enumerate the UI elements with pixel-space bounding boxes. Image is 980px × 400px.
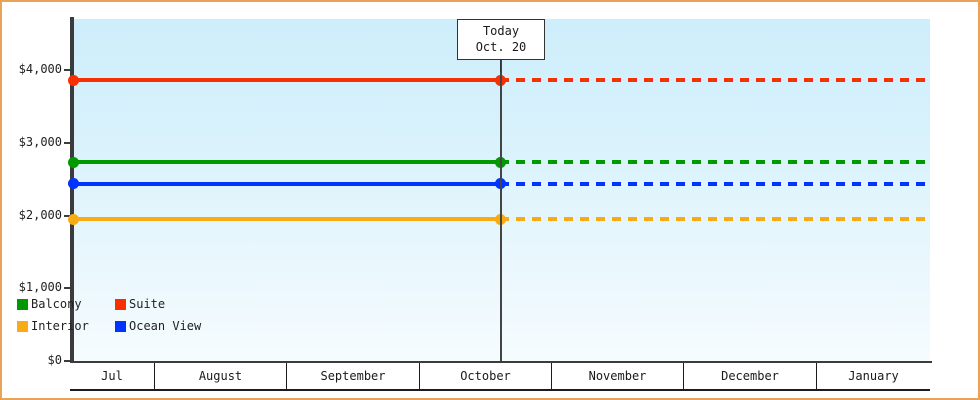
legend: Balcony Suite Interior Ocean View	[17, 293, 213, 337]
legend-label-suite: Suite	[129, 293, 165, 315]
series-line-dashed-interior[interactable]	[500, 217, 930, 221]
month-cell-august[interactable]: August	[155, 363, 287, 389]
y-axis-tick-mark	[64, 69, 71, 71]
y-axis-tick-label: $4,000	[0, 63, 62, 75]
today-callout-box[interactable]: Today Oct. 20	[457, 19, 545, 60]
y-axis-tick-label-text: $2,000	[0, 209, 62, 221]
y-axis-tick-mark	[64, 287, 71, 289]
series-line-dashed-balcony[interactable]	[500, 160, 930, 164]
legend-row-2: Interior Ocean View	[17, 315, 213, 337]
legend-swatch-balcony	[17, 299, 28, 310]
legend-label-interior: Interior	[31, 315, 89, 337]
month-cell-december[interactable]: December	[684, 363, 817, 389]
series-line-solid-suite[interactable]	[74, 78, 500, 82]
month-cell-jul[interactable]: Jul	[70, 363, 155, 389]
legend-item-interior[interactable]: Interior	[17, 315, 103, 337]
chart-page: $0$1,000$2,000$3,000$4,000 Today Oct. 20…	[0, 0, 980, 400]
series-line-solid-balcony[interactable]	[74, 160, 500, 164]
legend-item-ocean-view[interactable]: Ocean View	[115, 315, 201, 337]
y-axis-tick-mark	[64, 360, 71, 362]
month-cell-september[interactable]: September	[287, 363, 420, 389]
month-cell-january[interactable]: January	[817, 363, 930, 389]
legend-label-balcony: Balcony	[31, 293, 82, 315]
y-axis-tick-label-text: $1,000	[0, 281, 62, 293]
legend-swatch-ocean-view	[115, 321, 126, 332]
y-axis-tick-label-text: $3,000	[0, 136, 62, 148]
series-line-dashed-ocean-view[interactable]	[500, 182, 930, 186]
y-axis-tick-label-text: $0	[0, 354, 62, 366]
series-start-marker-balcony[interactable]	[68, 157, 79, 168]
today-callout-date: Oct. 20	[466, 39, 536, 55]
series-line-solid-ocean-view[interactable]	[74, 182, 500, 186]
legend-swatch-suite	[115, 299, 126, 310]
y-axis-tick-label-text: $4,000	[0, 63, 62, 75]
month-cell-october[interactable]: October	[420, 363, 552, 389]
legend-row-1: Balcony Suite	[17, 293, 213, 315]
today-callout-stem	[500, 60, 501, 72]
legend-swatch-interior	[17, 321, 28, 332]
month-cell-november[interactable]: November	[552, 363, 684, 389]
y-axis-tick-label: $0	[0, 354, 62, 366]
series-start-marker-suite[interactable]	[68, 75, 79, 86]
today-callout-title: Today	[466, 23, 536, 39]
month-axis: JulAugustSeptemberOctoberNovemberDecembe…	[70, 363, 930, 391]
y-axis-tick-label: $2,000	[0, 209, 62, 221]
y-axis-tick-label: $1,000	[0, 281, 62, 293]
legend-label-ocean-view: Ocean View	[129, 315, 201, 337]
legend-item-suite[interactable]: Suite	[115, 293, 165, 315]
series-line-dashed-suite[interactable]	[500, 78, 930, 82]
series-start-marker-interior[interactable]	[68, 214, 79, 225]
y-axis-tick-mark	[64, 142, 71, 144]
legend-item-balcony[interactable]: Balcony	[17, 293, 103, 315]
series-line-solid-interior[interactable]	[74, 217, 500, 221]
y-axis-tick-label: $3,000	[0, 136, 62, 148]
